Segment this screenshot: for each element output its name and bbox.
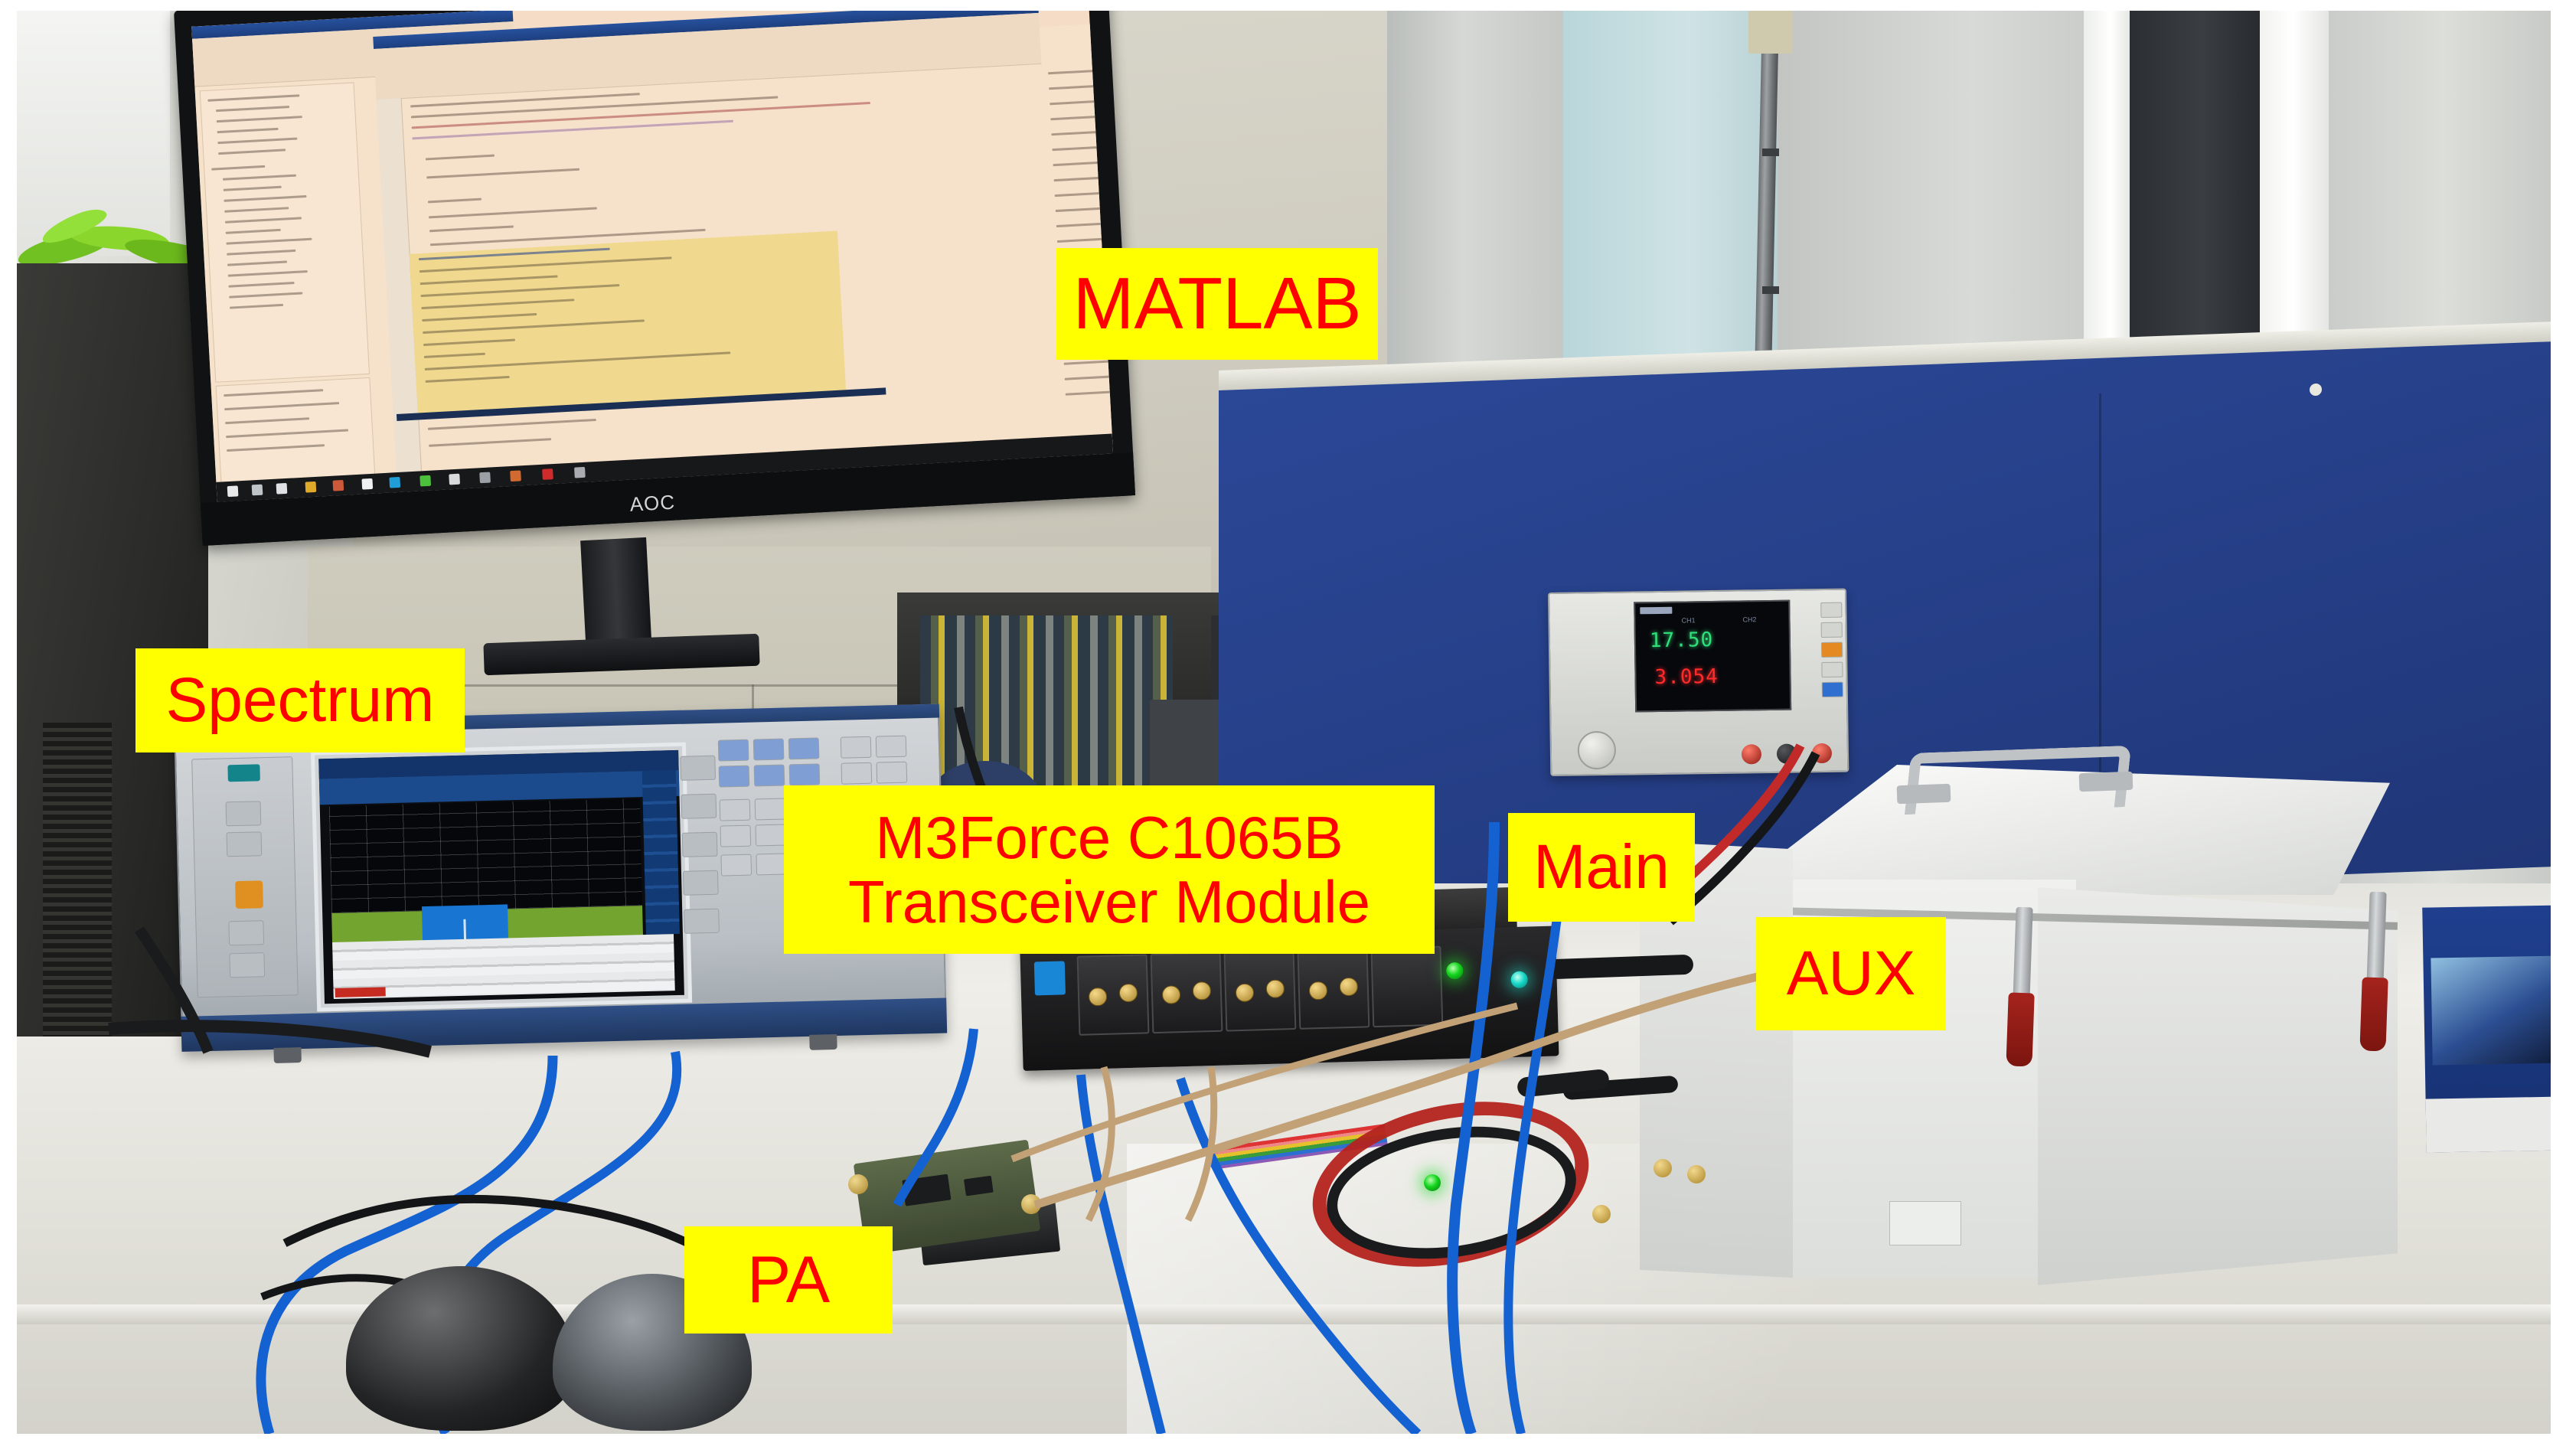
taskbar-start-icon[interactable] [227,485,239,497]
psu-brand-mark [1640,607,1672,615]
taskbar-app-icon[interactable] [332,480,344,491]
taskbar-app-icon[interactable] [542,468,553,480]
psu-display: CH1 CH2 17.50 3.054 [1634,600,1791,713]
analyzer-preset-button[interactable] [235,880,263,909]
analyzer-softkey[interactable] [226,801,262,826]
analyzer-softkey[interactable] [227,831,263,857]
latch-grip[interactable] [2359,977,2388,1051]
taskbar-search-icon[interactable] [252,485,263,496]
monitor-screen [191,11,1113,502]
latch-arm [2013,907,2032,1000]
psu-menu-key[interactable] [1821,662,1843,677]
pc-tower-vent [43,723,112,1037]
pa-chip [964,1176,994,1196]
figure-canvas: AOC [0,0,2553,1456]
annotation-label-aux: AUX [1756,917,1946,1030]
taskbar-app-icon[interactable] [361,478,373,490]
psu-menu-key[interactable] [1821,622,1843,638]
analyzer-display-frame [311,743,692,1012]
analyzer-softkey-menu[interactable] [642,770,680,935]
module-rf-bay [1077,954,1150,1036]
laboratory-bench-photograph: AOC [17,11,2551,1434]
pa-chip [902,1174,951,1206]
taskbar-app-icon[interactable] [574,467,586,478]
main-sma-bulkhead[interactable] [1654,1159,1672,1177]
taskbar-app-icon[interactable] [510,470,521,482]
psu-enter-key[interactable] [1822,682,1843,697]
analyzer-foot [809,1034,837,1050]
taskbar-matlab-icon[interactable] [420,475,431,487]
psu-channel-1-label: CH1 [1681,616,1695,624]
analyzer-status-indicator [335,987,386,997]
product-box-blue [2422,905,2551,1152]
pa-output-connector[interactable] [1021,1194,1041,1214]
taskbar-app-icon[interactable] [479,472,491,484]
taskbar-app-icon[interactable] [449,474,460,485]
enclosure-side [2038,887,2398,1285]
dc-power-supply: CH1 CH2 17.50 3.054 [1548,589,1849,776]
analyzer-power-button[interactable] [227,764,260,782]
annotation-label-matlab: MATLAB [1056,248,1378,360]
product-box-artwork [2431,956,2551,1066]
handle-mount [1897,784,1951,804]
latch-grip[interactable] [2006,992,2034,1066]
product-box-base [2426,1096,2551,1152]
main-sma-bulkhead[interactable] [1592,1205,1611,1223]
analyzer-foot [273,1047,301,1063]
taskbar-browser-icon[interactable] [389,477,400,488]
taskbar-folder-icon[interactable] [305,482,317,493]
latch-arm [2366,892,2386,984]
module-blank-bay [1370,946,1443,1028]
psu-output-key[interactable] [1821,642,1843,658]
analyzer-display [318,750,684,1004]
annotation-label-pa: PA [684,1226,893,1334]
pole-cap [1748,11,1793,54]
psu-menu-key[interactable] [1820,602,1842,618]
pa-input-connector[interactable] [848,1174,868,1194]
module-rf-bay [1297,948,1370,1030]
analyzer-left-keypad[interactable] [191,756,299,997]
psu-channel-2-label: CH2 [1742,615,1756,623]
analyzer-softkey[interactable] [228,920,264,945]
main-sma-bulkhead[interactable] [1687,1165,1706,1183]
monitor-brand-logo: AOC [629,491,676,517]
annotation-label-spectrum: Spectrum [135,648,465,752]
enclosure-id-plate [1889,1201,1961,1245]
computer-monitor: AOC [174,11,1135,546]
module-logo-badge [1034,961,1066,995]
handle-mount [2079,772,2133,792]
analyzer-trace-grid [329,798,642,913]
analyzer-softkey[interactable] [229,952,265,978]
taskbar-explorer-icon[interactable] [276,483,288,495]
annotation-label-main: Main [1508,813,1695,922]
module-rf-bay [1151,952,1223,1034]
annotation-label-transceiver-module: M3Force C1065B Transceiver Module [784,785,1435,954]
psu-current-readout: 3.054 [1654,665,1719,689]
module-rf-bay [1224,950,1297,1032]
psu-voltage-readout: 17.50 [1650,628,1714,652]
